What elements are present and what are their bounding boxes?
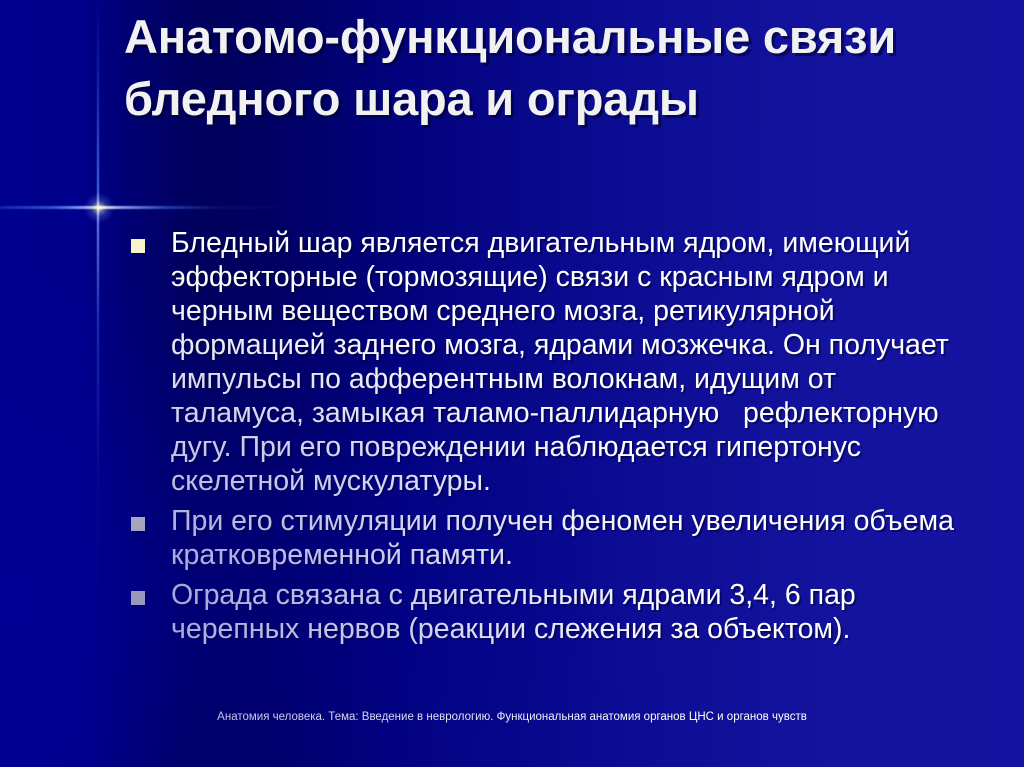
presentation-slide: Анатомо-функциональные связи бледного ша… bbox=[0, 0, 1024, 767]
list-item: Бледный шар является двигательным ядром,… bbox=[126, 226, 956, 498]
slide-footer: Анатомия человека. Тема: Введение в невр… bbox=[0, 709, 1024, 726]
slide-body-list: Бледный шар является двигательным ядром,… bbox=[126, 226, 956, 652]
square-bullet-icon bbox=[131, 591, 145, 605]
list-item-text: При его стимуляции получен феномен увели… bbox=[171, 504, 956, 572]
horizontal-light-beam-icon bbox=[0, 206, 300, 209]
slide-title: Анатомо-функциональные связи бледного ша… bbox=[124, 6, 1004, 130]
spark-glow-icon bbox=[84, 193, 114, 223]
list-item-text: Ограда связана с двигательными ядрами 3,… bbox=[171, 578, 956, 646]
square-bullet-icon bbox=[131, 517, 145, 531]
list-item-text: Бледный шар является двигательным ядром,… bbox=[171, 226, 956, 498]
list-item: Ограда связана с двигательными ядрами 3,… bbox=[126, 578, 956, 646]
square-bullet-icon bbox=[131, 239, 145, 253]
list-item: При его стимуляции получен феномен увели… bbox=[126, 504, 956, 572]
vertical-light-beam-icon bbox=[97, 0, 99, 767]
